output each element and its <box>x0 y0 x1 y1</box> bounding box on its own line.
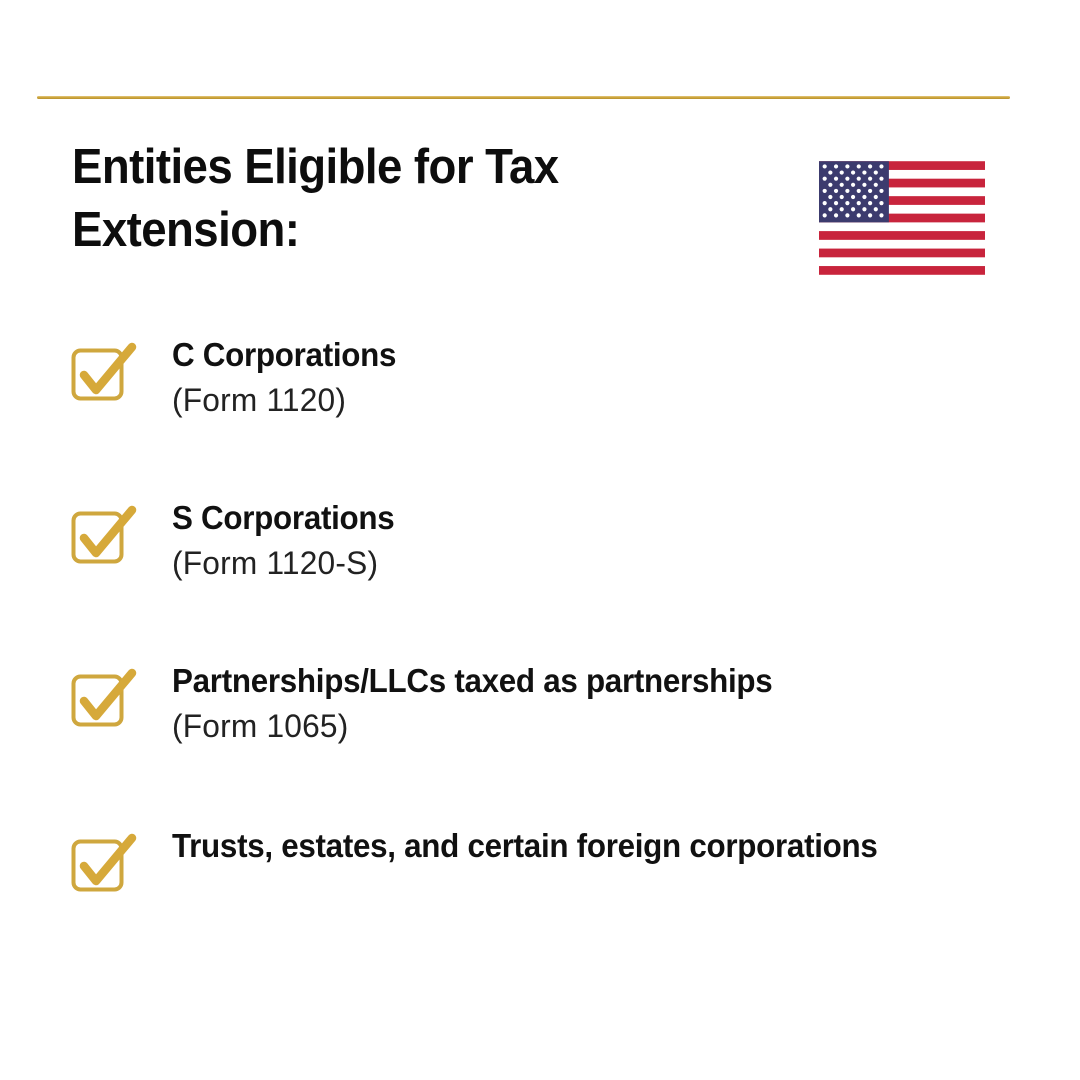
checked-checkbox-icon[interactable] <box>70 670 136 732</box>
page-title-line-2: Extension: <box>72 199 559 262</box>
checklist-item[interactable]: Partnerships/LLCs taxed as partnerships … <box>70 658 1030 747</box>
united-states-flag-icon <box>819 161 985 275</box>
checklist-item-title: Partnerships/LLCs taxed as partnerships <box>172 658 987 704</box>
checklist-item-title: S Corporations <box>172 495 987 541</box>
gold-divider-rule <box>37 96 1010 99</box>
checklist-item[interactable]: C Corporations (Form 1120) <box>70 332 1030 421</box>
checklist-item-form: (Form 1120-S) <box>172 543 1021 585</box>
page-title-line-1: Entities Eligible for Tax <box>72 136 559 199</box>
checked-checkbox-icon[interactable] <box>70 344 136 406</box>
eligible-entities-checklist: C Corporations (Form 1120) S Corporation… <box>70 332 1030 897</box>
checked-checkbox-icon[interactable] <box>70 507 136 569</box>
page-title: Entities Eligible for Tax Extension: <box>72 136 559 261</box>
checklist-item-title: Trusts, estates, and certain foreign cor… <box>172 823 987 869</box>
checklist-item[interactable]: Trusts, estates, and certain foreign cor… <box>70 823 1030 897</box>
checklist-item-text: Partnerships/LLCs taxed as partnerships … <box>172 658 1030 747</box>
checklist-item-title: C Corporations <box>172 332 987 378</box>
checklist-item-text: S Corporations (Form 1120-S) <box>172 495 1030 584</box>
checklist-item[interactable]: S Corporations (Form 1120-S) <box>70 495 1030 584</box>
checked-checkbox-icon[interactable] <box>70 835 136 897</box>
checklist-item-form: (Form 1065) <box>172 706 1021 748</box>
slide-root: Entities Eligible for Tax Extension: <box>0 0 1080 1080</box>
checklist-item-text: Trusts, estates, and certain foreign cor… <box>172 823 1030 869</box>
checklist-item-text: C Corporations (Form 1120) <box>172 332 1030 421</box>
checklist-item-form: (Form 1120) <box>172 380 1021 422</box>
